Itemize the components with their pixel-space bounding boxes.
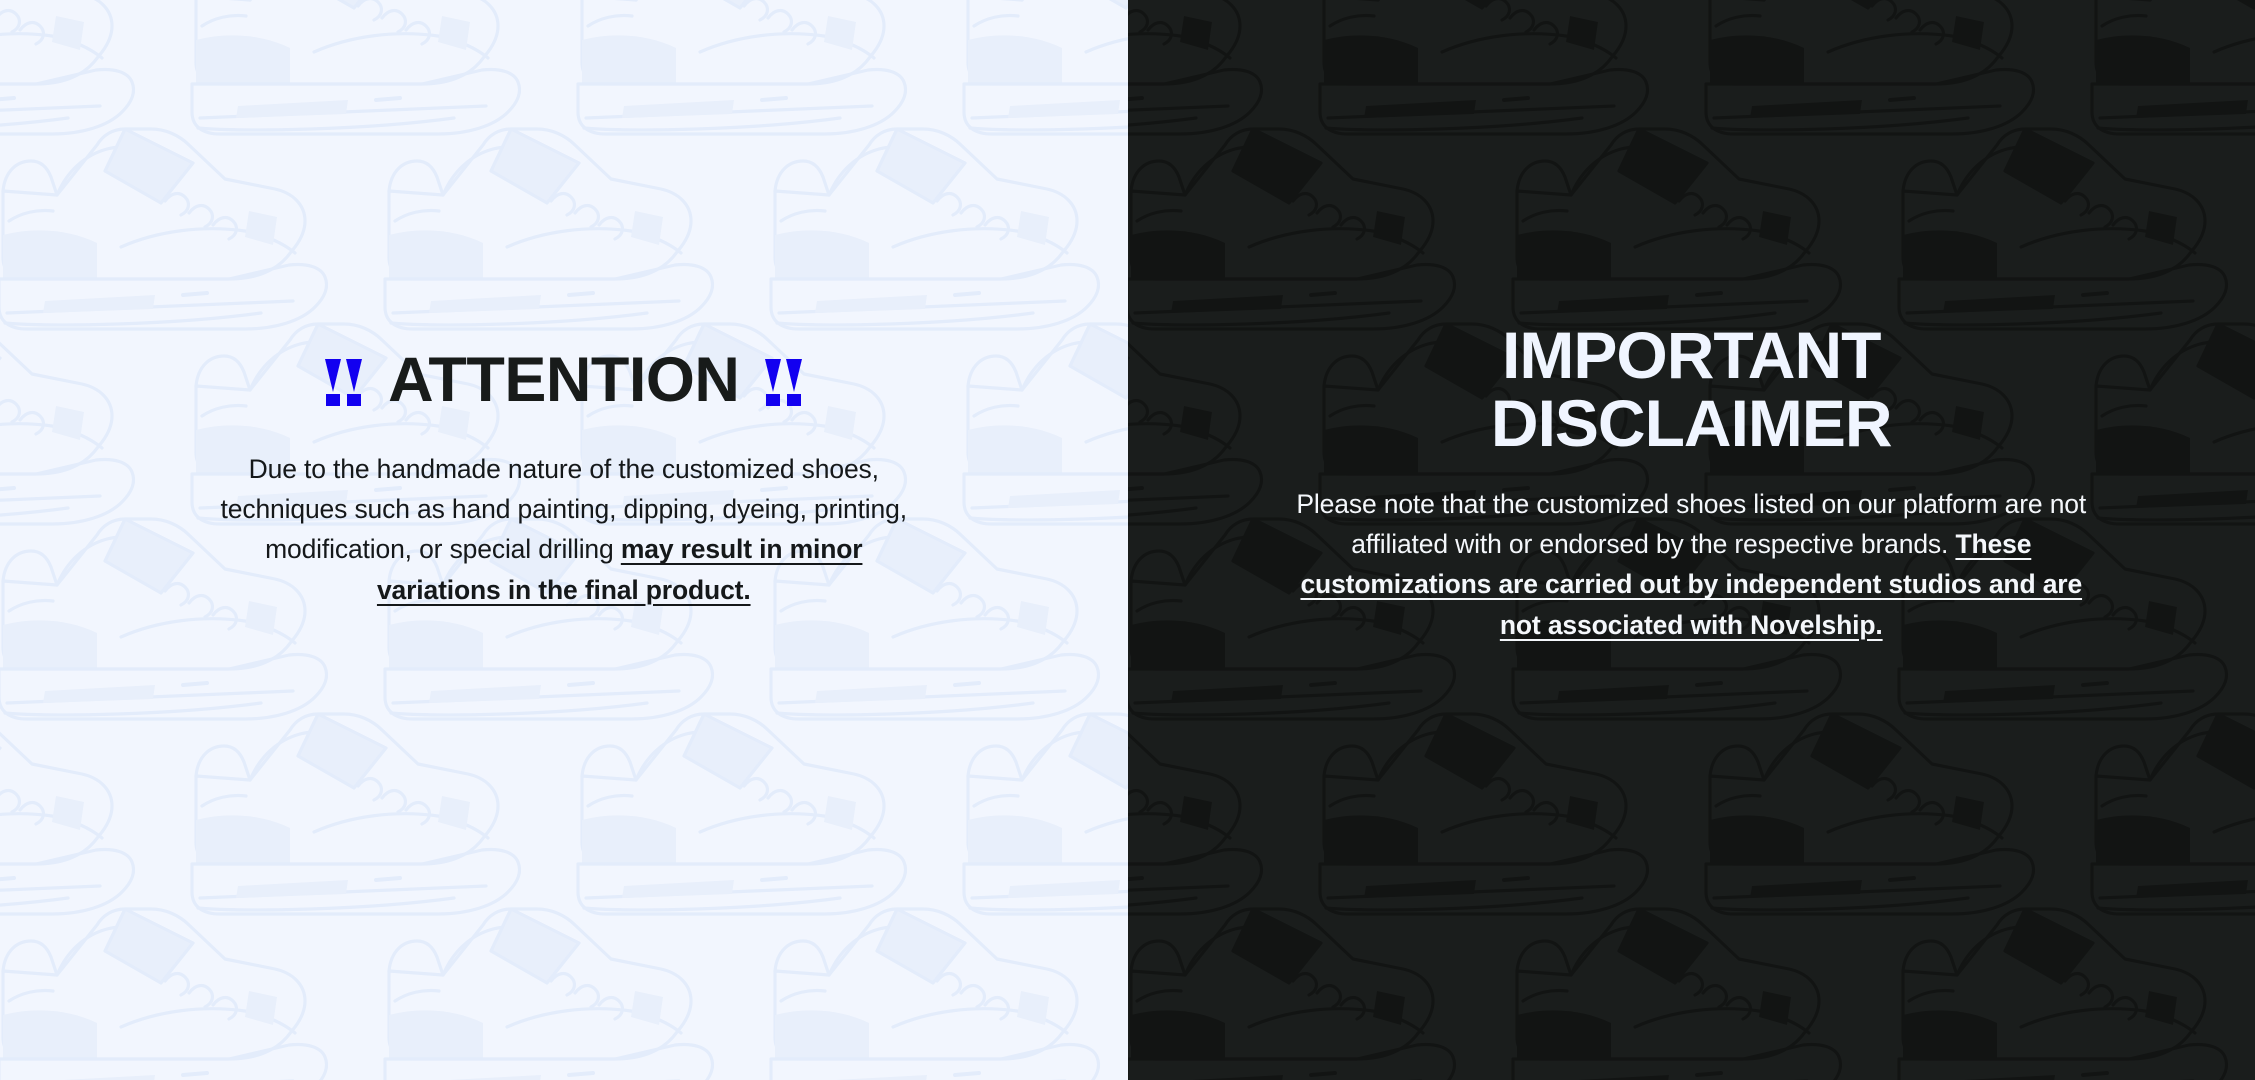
disclaimer-banner: ATTENTION Due to the handmade nature of … bbox=[0, 0, 2255, 1080]
disclaimer-heading-line-1: IMPORTANT bbox=[1502, 322, 1880, 390]
double-exclamation-icon-left bbox=[325, 359, 362, 406]
attention-panel: ATTENTION Due to the handmade nature of … bbox=[0, 0, 1128, 1080]
disclaimer-heading-line-2: DISCLAIMER bbox=[1491, 390, 1892, 458]
disclaimer-content: IMPORTANT DISCLAIMER Please note that th… bbox=[1281, 0, 2101, 645]
exclamation-mark-glyph bbox=[325, 359, 341, 406]
double-exclamation-icon-right bbox=[765, 359, 802, 406]
attention-heading-text: ATTENTION bbox=[388, 348, 739, 413]
exclamation-mark-glyph bbox=[765, 359, 781, 406]
attention-content: ATTENTION Due to the handmade nature of … bbox=[164, 0, 964, 610]
disclaimer-body: Please note that the customized shoes li… bbox=[1281, 484, 2101, 645]
attention-heading: ATTENTION bbox=[164, 348, 964, 413]
disclaimer-heading: IMPORTANT DISCLAIMER bbox=[1281, 322, 2101, 458]
exclamation-mark-glyph bbox=[346, 359, 362, 406]
disclaimer-panel: IMPORTANT DISCLAIMER Please note that th… bbox=[1128, 0, 2255, 1080]
attention-body: Due to the handmade nature of the custom… bbox=[164, 449, 964, 610]
exclamation-mark-glyph bbox=[786, 359, 802, 406]
